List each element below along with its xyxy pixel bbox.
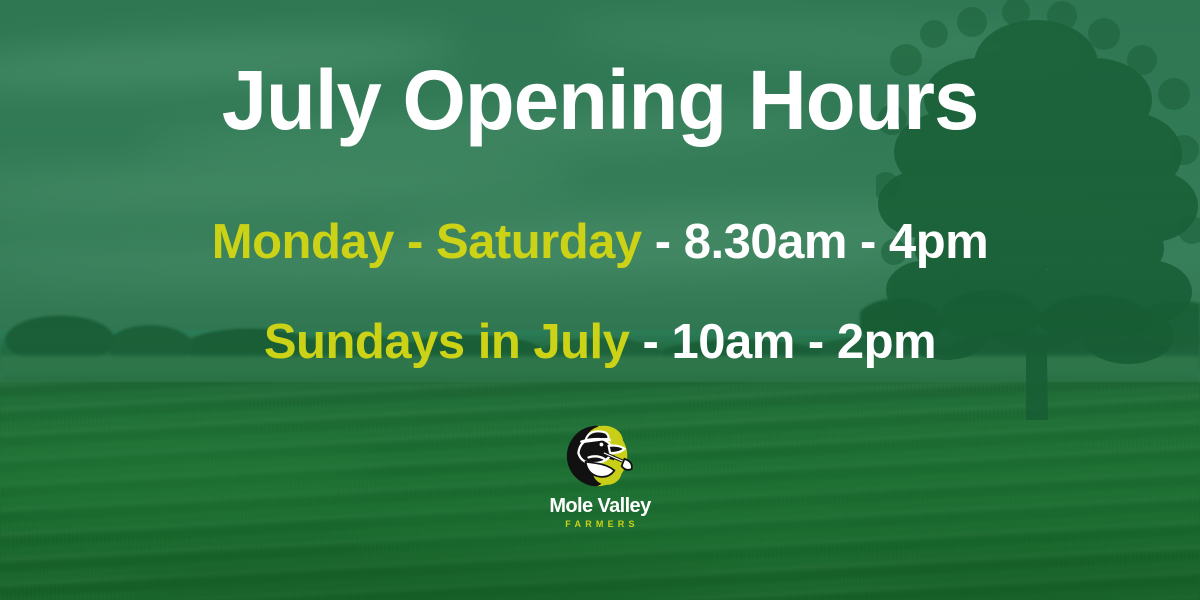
mole-with-spade-icon: [564, 420, 636, 492]
hours-line-sunday: Sundays in July - 10am - 2pm: [264, 318, 936, 367]
hours-separator: -: [642, 215, 684, 269]
hours-line-weekday: Monday - Saturday - 8.30am - 4pm: [212, 218, 988, 267]
hours-days-label: Sundays in July: [264, 315, 630, 369]
hours-separator: -: [629, 315, 671, 369]
logo-subtext: FARMERS: [561, 520, 638, 529]
hours-time-label: 8.30am - 4pm: [684, 215, 989, 269]
logo-wordmark: Mole Valley: [549, 496, 650, 516]
hours-days-label: Monday - Saturday: [212, 215, 642, 269]
mole-valley-farmers-logo: Mole Valley FARMERS: [535, 420, 665, 529]
page-title: July Opening Hours: [222, 58, 979, 142]
hours-time-label: 10am - 2pm: [671, 315, 936, 369]
opening-hours-banner: July Opening Hours Monday - Saturday - 8…: [0, 0, 1200, 600]
